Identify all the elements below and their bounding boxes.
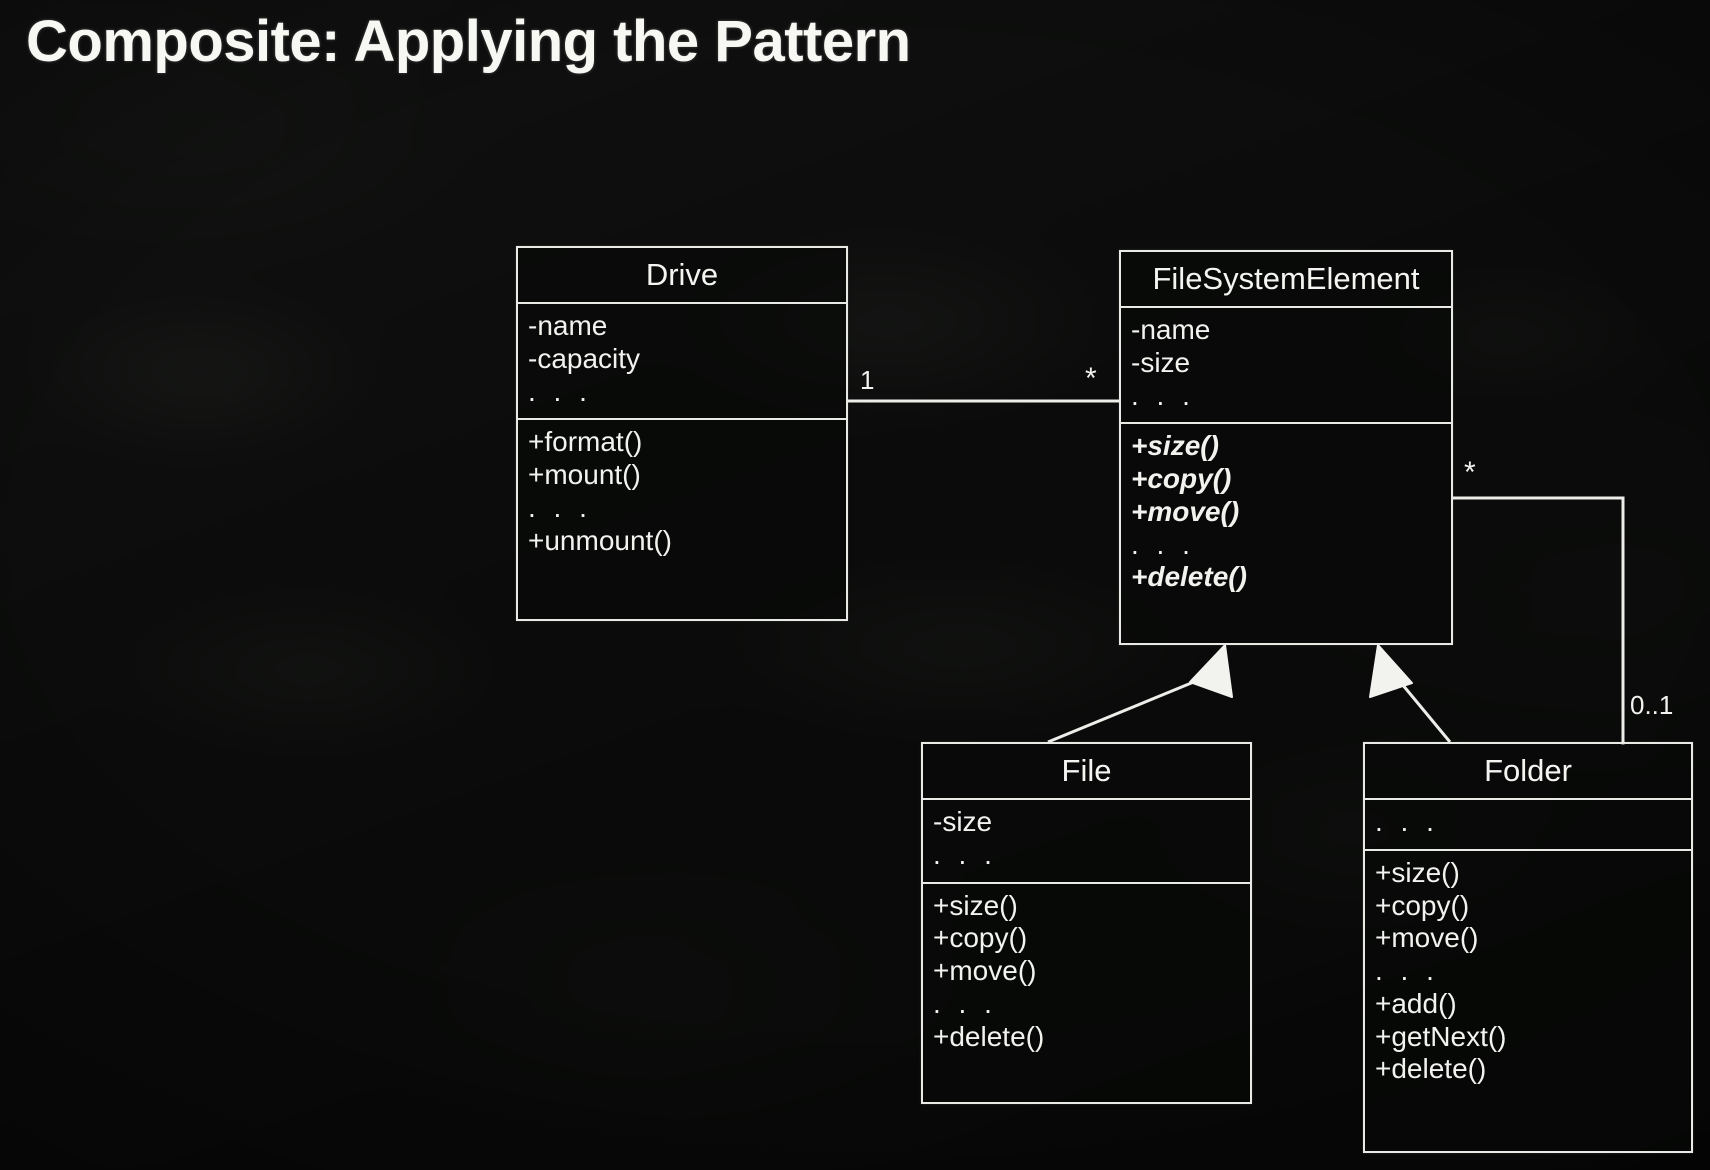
class-operations-filesystemelement: +size() +copy() +move() . . . +delete() — [1121, 424, 1451, 604]
class-box-drive[interactable]: Drive -name -capacity . . . +format() +m… — [516, 246, 848, 621]
class-name-drive: Drive — [518, 248, 846, 304]
operation-row: . . . — [1131, 529, 1451, 562]
operation-row: . . . — [933, 988, 1250, 1021]
operation-row: +delete() — [1375, 1053, 1691, 1086]
attribute-row: . . . — [1131, 380, 1451, 413]
class-name-filesystemelement: FileSystemElement — [1121, 252, 1451, 308]
class-attributes-folder: . . . — [1365, 800, 1691, 851]
operation-row: +mount() — [528, 459, 846, 492]
operation-row: +move() — [933, 955, 1250, 988]
class-box-filesystemelement[interactable]: FileSystemElement -name -size . . . +siz… — [1119, 250, 1453, 645]
operation-row: +copy() — [1375, 890, 1691, 923]
multiplicity-drive-one: 1 — [860, 365, 874, 396]
multiplicity-fse-many: * — [1085, 362, 1097, 396]
class-attributes-drive: -name -capacity . . . — [518, 304, 846, 420]
operation-row: +getNext() — [1375, 1021, 1691, 1054]
operation-row: +move() — [1131, 496, 1451, 529]
operation-row: +unmount() — [528, 525, 846, 558]
attribute-row: -size — [933, 806, 1250, 839]
attribute-row: -name — [1131, 314, 1451, 347]
operation-row: +move() — [1375, 922, 1691, 955]
class-name-file: File — [923, 744, 1250, 800]
class-operations-file: +size() +copy() +move() . . . +delete() — [923, 884, 1250, 1064]
class-box-file[interactable]: File -size . . . +size() +copy() +move()… — [921, 742, 1252, 1104]
attribute-row: . . . — [528, 376, 846, 409]
class-name-folder: Folder — [1365, 744, 1691, 800]
operation-row: +size() — [1375, 857, 1691, 890]
operation-row: +format() — [528, 426, 846, 459]
operation-row: +size() — [1131, 430, 1451, 463]
operation-row: +delete() — [1131, 561, 1451, 594]
operation-row: +size() — [933, 890, 1250, 923]
class-box-folder[interactable]: Folder . . . +size() +copy() +move() . .… — [1363, 742, 1693, 1153]
operation-row: +copy() — [1131, 463, 1451, 496]
operation-row: +delete() — [933, 1021, 1250, 1054]
operation-row: . . . — [528, 492, 846, 525]
attribute-row: -capacity — [528, 343, 846, 376]
class-attributes-filesystemelement: -name -size . . . — [1121, 308, 1451, 424]
slide-canvas: Composite: Applying the Pattern Folder 0… — [0, 0, 1710, 1170]
class-operations-folder: +size() +copy() +move() . . . +add() +ge… — [1365, 851, 1691, 1096]
attribute-row: -size — [1131, 347, 1451, 380]
attribute-row: . . . — [933, 839, 1250, 872]
operation-row: +add() — [1375, 988, 1691, 1021]
operation-row: . . . — [1375, 955, 1691, 988]
page-title: Composite: Applying the Pattern — [26, 8, 911, 75]
attribute-row: -name — [528, 310, 846, 343]
operation-row: +copy() — [933, 922, 1250, 955]
attribute-row: . . . — [1375, 806, 1691, 839]
class-operations-drive: +format() +mount() . . . +unmount() — [518, 420, 846, 567]
class-attributes-file: -size . . . — [923, 800, 1250, 884]
multiplicity-folder-parent-optional: 0..1 — [1630, 690, 1673, 721]
multiplicity-folder-children-many: * — [1464, 456, 1476, 490]
